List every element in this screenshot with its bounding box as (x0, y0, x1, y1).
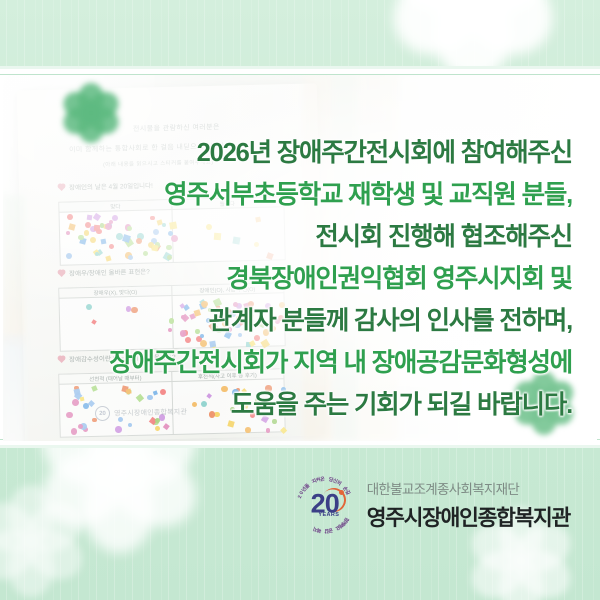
headline-line-1: 2026년 장애주간전시회에 참여해주신 (0, 132, 572, 174)
flower-petal (84, 469, 154, 553)
headline-line-2: 영주서부초등학교 재학생 및 교직원 분들, (0, 174, 572, 216)
organization-sub-name: 대한불교조계종사회복지재단 (367, 478, 570, 498)
sticker-dot (245, 427, 251, 433)
headline-line-7: 도움을 주는 기회가 되길 바랍니다. (0, 384, 572, 426)
flower-icon-bottom-right (520, 560, 522, 562)
emblem-dot-icon (339, 490, 344, 495)
headline-line-4: 경북장애인권익협회 영주시지회 및 (0, 258, 572, 300)
flower-petal (20, 521, 91, 589)
headline-line-5: 관계자 분들께 감사의 인사를 전하며, (0, 300, 572, 342)
anniversary-emblem-icon: 20년을 지켜온 당신의 손길 함께해요 공감 복지 20 YEARS (294, 474, 356, 536)
flower-petal (8, 541, 54, 597)
organization-text: 대한불교조계종사회복지재단 영주시장애인종합복지관 (367, 478, 570, 532)
footer-logo-lockup: 20년을 지켜온 당신의 손길 함께해요 공감 복지 20 YEARS 대한불교… (294, 470, 570, 540)
headline-line-3: 전시회 진행해 협조해주신 (0, 216, 572, 258)
flower-icon-bottom-left (118, 468, 120, 470)
flower-petal (0, 521, 43, 589)
emblem-arc-char: 감 (324, 527, 329, 534)
flower-petal (510, 542, 579, 600)
flower-petal (379, 0, 492, 27)
flower-icon-left-mid (30, 540, 32, 542)
flower-petal (499, 561, 543, 600)
flower-petal (102, 439, 210, 542)
sticker-dot (115, 426, 122, 433)
sticker-dot (266, 428, 270, 432)
organization-main-name: 영주시장애인종합복지관 (367, 501, 570, 532)
flower-petal (454, 0, 567, 27)
headline-message: 2026년 장애주간전시회에 참여해주신 영주서부초등학교 재학생 및 교직원 … (0, 132, 600, 426)
flower-petal (0, 493, 43, 561)
promo-card: 전시물을 관람하신 여러분은 이미 함께하는 통합사회로 한 걸음 내딛으셨습니… (0, 0, 600, 600)
sticker-dot (71, 428, 77, 434)
flower-petal (463, 542, 532, 600)
flower-petal (454, 0, 567, 70)
headline-line-6: 장애주간전시회가 지역 내 장애공감문화형성에 (0, 342, 572, 384)
flower-petal (20, 493, 91, 561)
flower-petal (379, 0, 492, 70)
flower-petal (29, 439, 137, 542)
emblem-years-label: YEARS (318, 512, 339, 518)
flower-petal (8, 485, 54, 541)
